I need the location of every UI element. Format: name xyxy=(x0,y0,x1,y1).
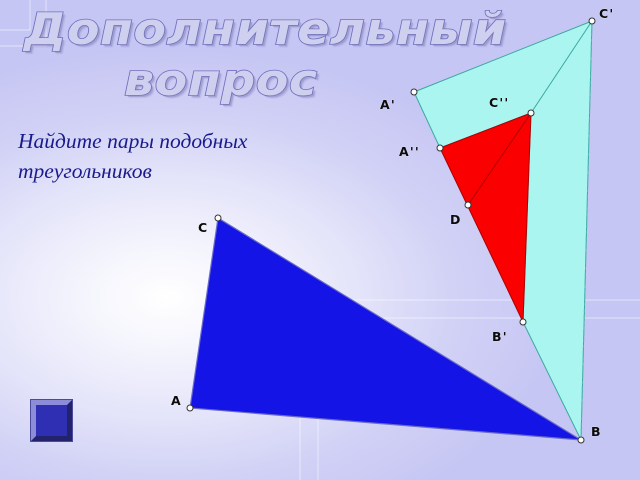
vertex-label-A-double: A'' xyxy=(399,144,420,159)
vertex-dot-A xyxy=(187,405,193,411)
vertex-dot-C-prime xyxy=(589,18,595,24)
vertex-dot-C xyxy=(215,215,221,221)
geometry-figure xyxy=(0,0,640,480)
vertex-label-D: D xyxy=(450,212,462,227)
vertex-dot-D xyxy=(465,202,471,208)
vertex-dot-A-double xyxy=(437,145,443,151)
vertex-label-C-prime: C' xyxy=(599,6,614,21)
slide-canvas: Дополнительный вопрос Найдите пары подоб… xyxy=(0,0,640,480)
vertex-label-C-double: C'' xyxy=(489,95,509,110)
vertex-label-B-prime: B' xyxy=(492,329,508,344)
vertex-dot-A-prime xyxy=(411,89,417,95)
vertex-dot-C-double xyxy=(528,110,534,116)
vertex-label-A-prime: A' xyxy=(380,97,396,112)
vertex-label-C: C xyxy=(198,220,208,235)
vertex-dot-B-prime xyxy=(520,319,526,325)
vertex-label-B: B xyxy=(591,424,602,439)
vertex-label-A: A xyxy=(171,393,182,408)
nav-button[interactable] xyxy=(31,400,72,441)
vertex-dot-B xyxy=(578,437,584,443)
